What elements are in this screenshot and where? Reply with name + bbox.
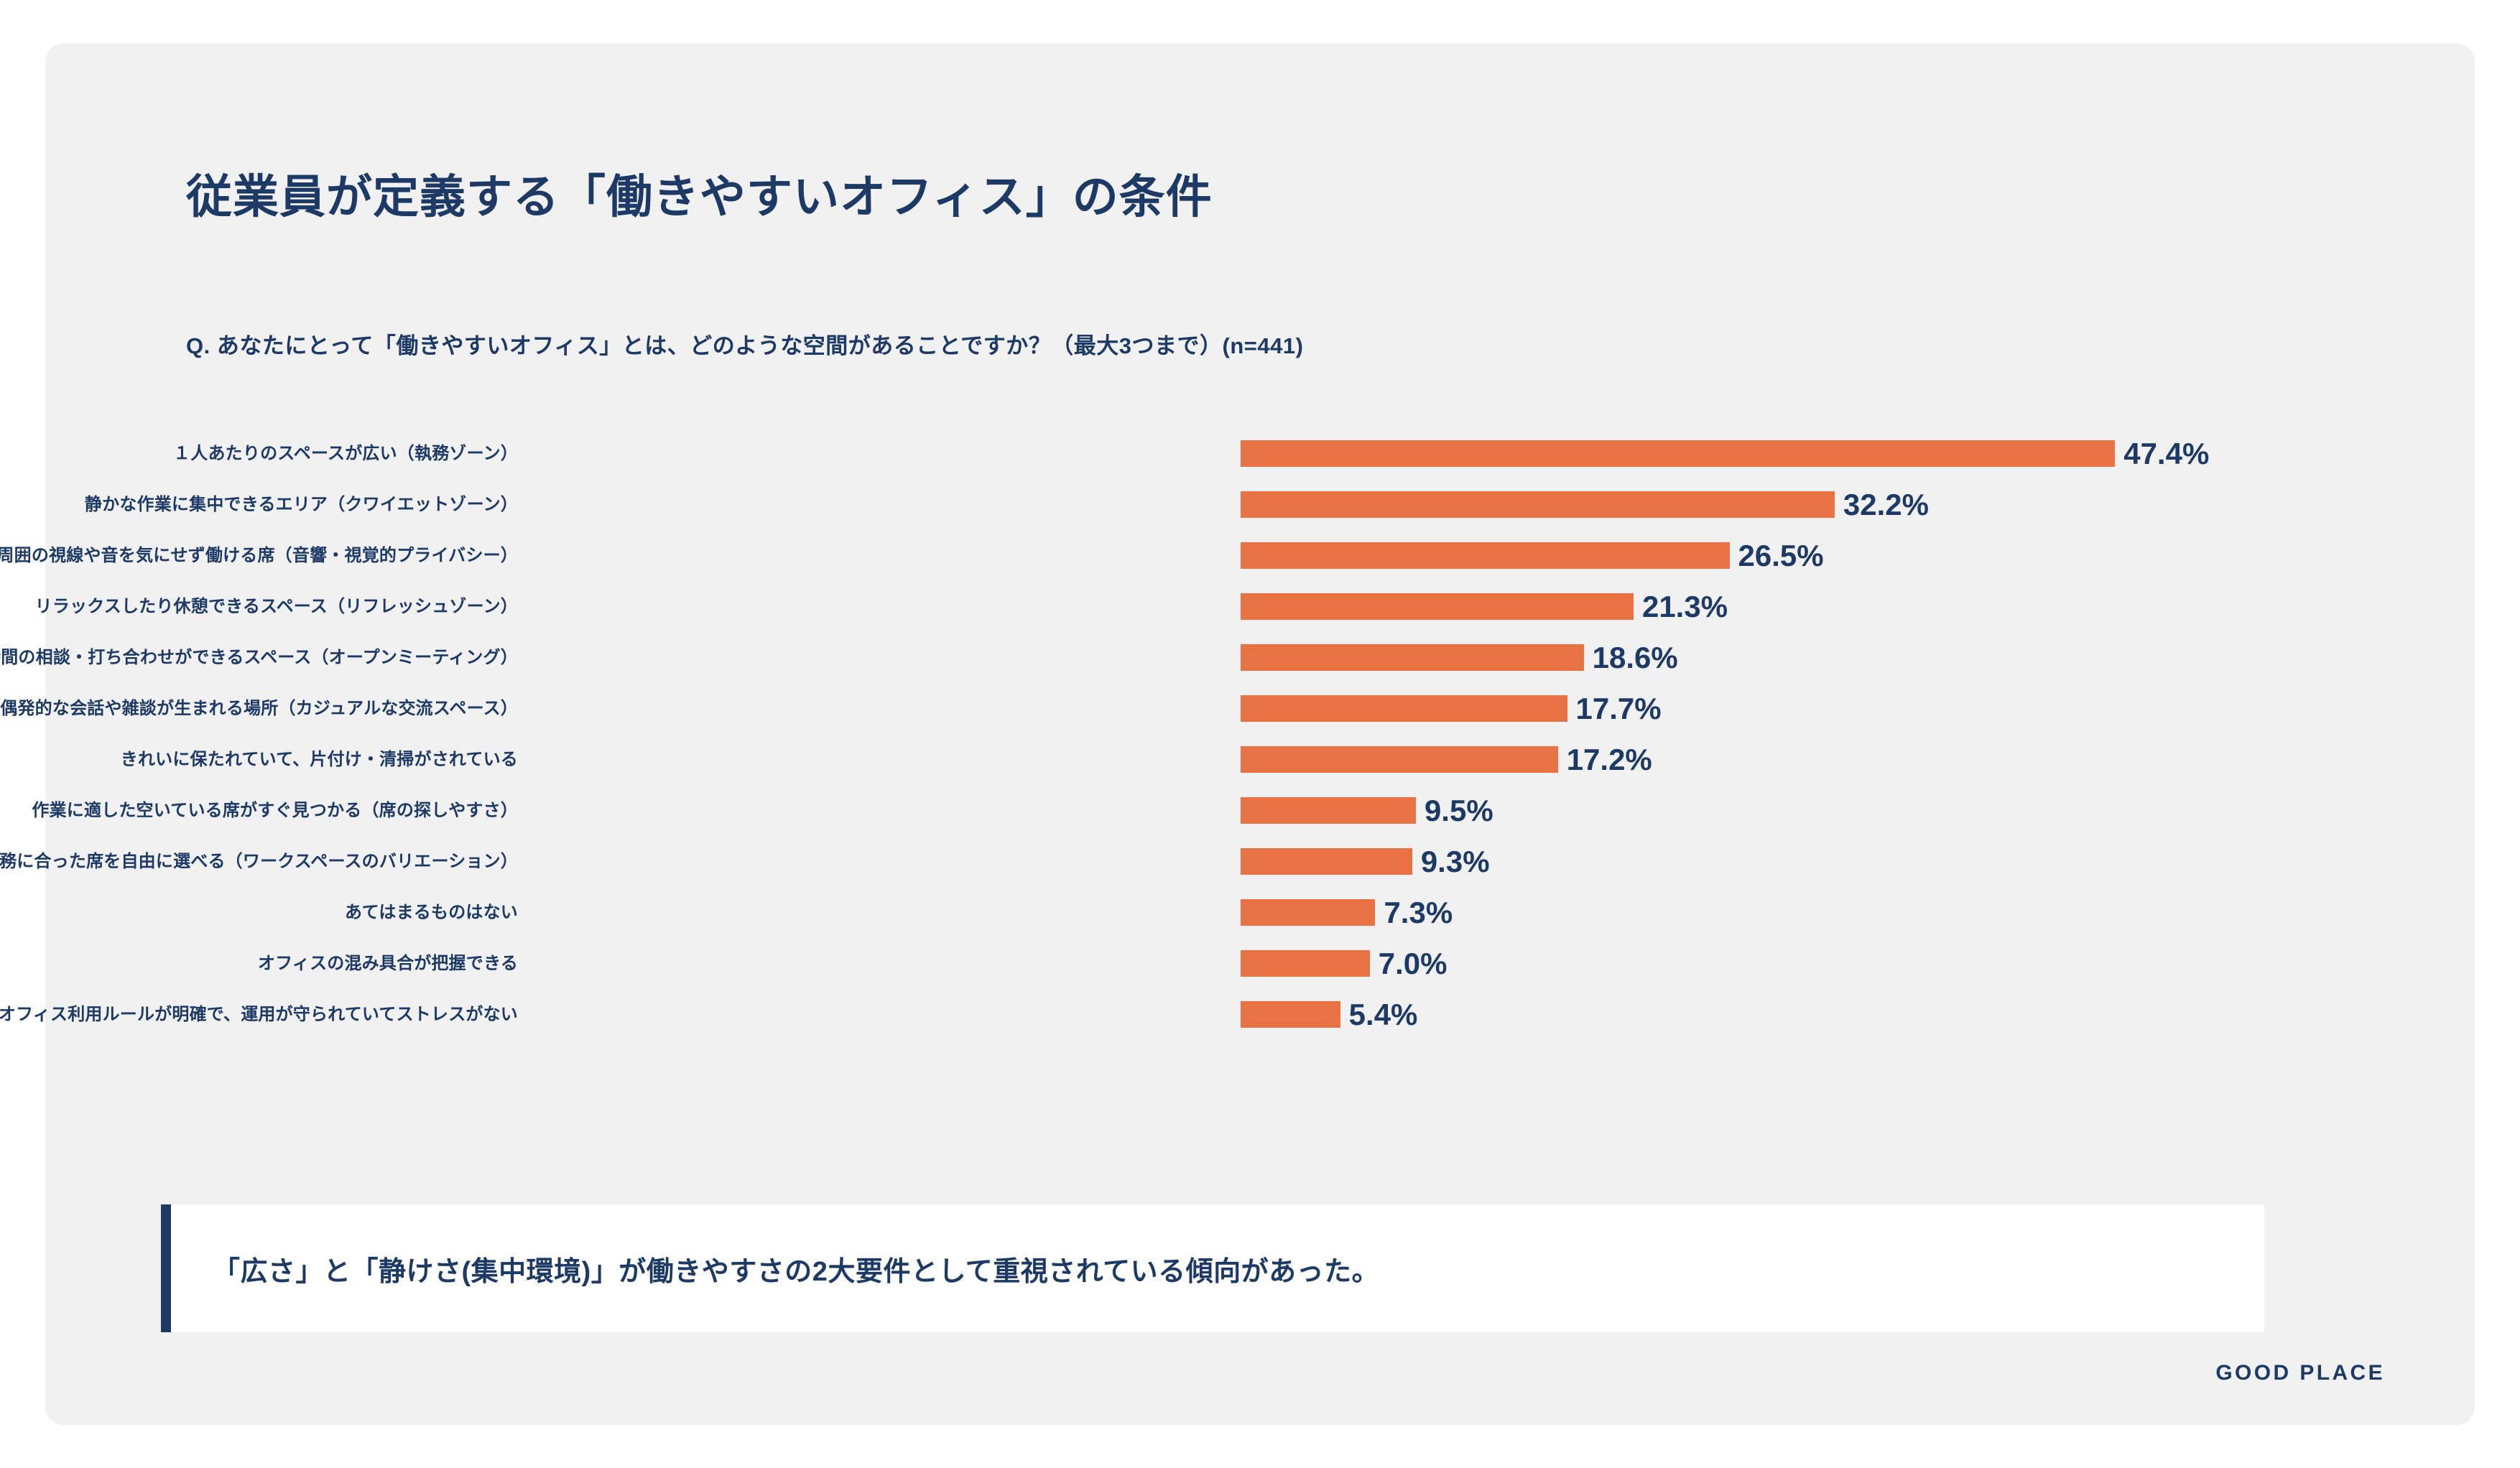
bar [1241, 593, 1634, 620]
insight-callout-text: 「広さ」と「静けさ(集中環境)」が働きやすさの2大要件として重視されている傾向が… [213, 1249, 1379, 1288]
bar-value-label: 17.7% [1576, 694, 1662, 724]
bar-value-label: 47.4% [2123, 439, 2209, 469]
bar-category-label: １人あたりのスペースが広い（執務ゾーン） [173, 428, 518, 479]
bar-row: 周囲の視線や音を気にせず働ける席（音響・視覚的プライバシー）26.5% [45, 530, 2475, 581]
slide-card: 従業員が定義する「働きやすいオフィス」の条件 Q. あなたにとって「働きやすいオ… [45, 43, 2475, 1425]
page-title: 従業員が定義する「働きやすいオフィス」の条件 [186, 160, 1213, 226]
bar-category-label: あてはまるものはない [345, 887, 518, 938]
bar-value-label: 26.5% [1738, 541, 1824, 571]
bar-category-label: 短時間の相談・打ち合わせができるスペース（オープンミーティング） [0, 632, 518, 683]
bar-category-label: その日の業務に合った席を自由に選べる（ワークスペースのバリエーション） [0, 836, 518, 887]
bar-row: オフィス利用ルールが明確で、運用が守られていてストレスがない5.4% [45, 989, 2475, 1040]
bar-category-label: 作業に適した空いている席がすぐ見つかる（席の探しやすさ） [32, 785, 518, 836]
bar [1241, 695, 1567, 722]
bar-value-label: 18.6% [1593, 643, 1678, 673]
bar-track: 9.3% [1241, 836, 1490, 887]
bar-category-label: きれいに保たれていて、片付け・清掃がされている [121, 734, 518, 785]
bar-track: 17.2% [1241, 734, 1652, 785]
bar-chart: １人あたりのスペースが広い（執務ゾーン）47.4%静かな作業に集中できるエリア（… [45, 428, 2475, 1053]
bar-category-label: 静かな作業に集中できるエリア（クワイエットゾーン） [85, 479, 518, 530]
insight-callout: 「広さ」と「静けさ(集中環境)」が働きやすさの2大要件として重視されている傾向が… [161, 1204, 2264, 1332]
bar-track: 32.2% [1241, 479, 1929, 530]
bar-value-label: 7.3% [1384, 898, 1453, 928]
bar-row: あてはまるものはない7.3% [45, 887, 2475, 938]
bar-track: 5.4% [1241, 989, 1417, 1040]
bar-track: 26.5% [1241, 530, 1824, 581]
bar-value-label: 7.0% [1379, 949, 1447, 979]
bar [1241, 899, 1375, 926]
bar-row: リラックスしたり休憩できるスペース（リフレッシュゾーン）21.3% [45, 581, 2475, 632]
bar-category-label: オフィスの混み具合が把握できる [258, 938, 518, 989]
bar [1241, 950, 1370, 977]
bar-track: 18.6% [1241, 632, 1678, 683]
survey-question: Q. あなたにとって「働きやすいオフィス」とは、どのような空間があることですか？… [186, 327, 1303, 360]
bar-track: 9.5% [1241, 785, 1493, 836]
bar-row: オフィスの混み具合が把握できる7.0% [45, 938, 2475, 989]
bar-value-label: 9.5% [1425, 796, 1493, 826]
bar-row: 偶発的な会話や雑談が生まれる場所（カジュアルな交流スペース）17.7% [45, 683, 2475, 734]
bar-row: きれいに保たれていて、片付け・清掃がされている17.2% [45, 734, 2475, 785]
bar-value-label: 21.3% [1642, 592, 1728, 622]
bar [1241, 746, 1558, 773]
bar [1241, 440, 2115, 467]
bar [1241, 848, 1412, 875]
bar-track: 17.7% [1241, 683, 1662, 734]
bar-row: その日の業務に合った席を自由に選べる（ワークスペースのバリエーション）9.3% [45, 836, 2475, 887]
bar-category-label: 周囲の視線や音を気にせず働ける席（音響・視覚的プライバシー） [0, 530, 518, 581]
bar-category-label: オフィス利用ルールが明確で、運用が守られていてストレスがない [0, 989, 518, 1040]
bar-track: 7.0% [1241, 938, 1447, 989]
bar-track: 47.4% [1241, 428, 2209, 479]
bar-track: 7.3% [1241, 887, 1453, 938]
bar [1241, 797, 1416, 824]
bar [1241, 1001, 1340, 1028]
bar-value-label: 5.4% [1349, 1000, 1418, 1030]
bar [1241, 542, 1730, 569]
bar-row: 短時間の相談・打ち合わせができるスペース（オープンミーティング）18.6% [45, 632, 2475, 683]
bar-row: 作業に適した空いている席がすぐ見つかる（席の探しやすさ）9.5% [45, 785, 2475, 836]
bar [1241, 644, 1584, 671]
bar-value-label: 17.2% [1567, 745, 1652, 775]
bar-row: １人あたりのスペースが広い（執務ゾーン）47.4% [45, 428, 2475, 479]
bar-category-label: リラックスしたり休憩できるスペース（リフレッシュゾーン） [35, 581, 518, 632]
bar [1241, 491, 1835, 518]
bar-value-label: 9.3% [1421, 847, 1490, 877]
bar-track: 21.3% [1241, 581, 1728, 632]
brand-logo: GOOD PLACE [2215, 1361, 2385, 1385]
bar-category-label: 偶発的な会話や雑談が生まれる場所（カジュアルな交流スペース） [0, 683, 518, 734]
bar-value-label: 32.2% [1843, 490, 1929, 520]
bar-row: 静かな作業に集中できるエリア（クワイエットゾーン）32.2% [45, 479, 2475, 530]
